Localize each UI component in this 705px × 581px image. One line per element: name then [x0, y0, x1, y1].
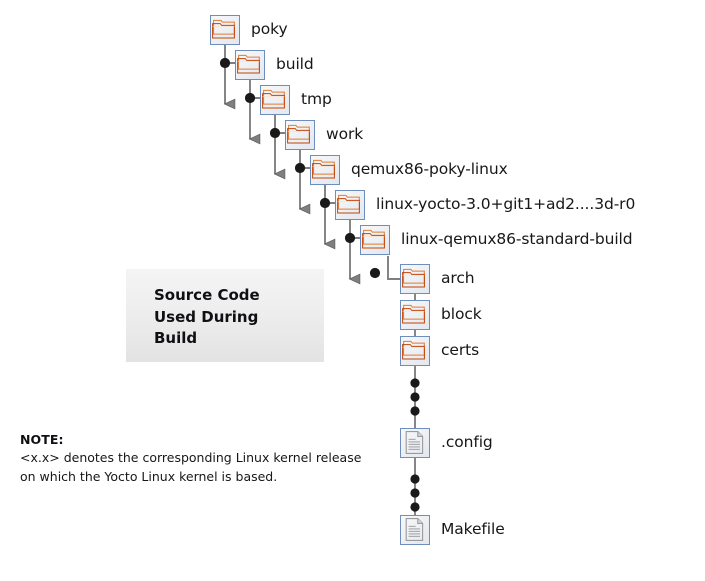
tree-node-linux-qemux86-standard-build[interactable]: linux-qemux86-standard-build: [360, 225, 632, 255]
tree-node-makefile[interactable]: Makefile: [400, 515, 505, 545]
connector-lines: [0, 0, 705, 581]
tree-node-linux-yocto[interactable]: linux-yocto-3.0+git1+ad2....3d-r0: [335, 190, 635, 220]
tree-node-poky[interactable]: poky: [210, 15, 288, 45]
source-code-callout-box: Source Code Used During Build: [126, 269, 324, 362]
tree-node-arch[interactable]: arch: [400, 264, 474, 294]
tree-node-config-file[interactable]: .config: [400, 428, 493, 458]
tree-node-label: qemux86-poky-linux: [351, 162, 508, 178]
folder-icon: [260, 85, 290, 115]
tree-node-label: linux-yocto-3.0+git1+ad2....3d-r0: [376, 197, 635, 213]
folder-icon: [400, 264, 430, 294]
tree-node-label: Makefile: [441, 522, 505, 538]
tree-node-label: linux-qemux86-standard-build: [401, 232, 632, 248]
note-block: NOTE: <x.x> denotes the corresponding Li…: [20, 431, 380, 486]
tree-node-qemux86-poky-linux[interactable]: qemux86-poky-linux: [310, 155, 508, 185]
note-title: NOTE:: [20, 431, 380, 449]
tree-node-label: build: [276, 57, 314, 73]
tree-node-work[interactable]: work: [285, 120, 363, 150]
folder-icon: [210, 15, 240, 45]
tree-node-label: .config: [441, 435, 493, 451]
tree-node-label: work: [326, 127, 363, 143]
folder-icon: [285, 120, 315, 150]
folder-icon: [400, 336, 430, 366]
tree-node-label: certs: [441, 343, 479, 359]
tree-node-label: block: [441, 307, 482, 323]
folder-icon: [235, 50, 265, 80]
note-body: <x.x> denotes the corresponding Linux ke…: [20, 449, 380, 486]
file-icon: [400, 515, 430, 545]
tree-node-label: tmp: [301, 92, 332, 108]
diagram-canvas: poky build tmp work qemux86-poky-linux l…: [0, 0, 705, 581]
folder-icon: [310, 155, 340, 185]
file-icon: [400, 428, 430, 458]
tree-node-tmp[interactable]: tmp: [260, 85, 332, 115]
source-code-callout-text: Source Code Used During Build: [154, 285, 260, 350]
tree-node-block[interactable]: block: [400, 300, 482, 330]
tree-node-label: arch: [441, 271, 474, 287]
folder-icon: [360, 225, 390, 255]
tree-node-build[interactable]: build: [235, 50, 314, 80]
tree-node-certs[interactable]: certs: [400, 336, 479, 366]
folder-icon: [400, 300, 430, 330]
folder-icon: [335, 190, 365, 220]
tree-node-label: poky: [251, 22, 288, 38]
